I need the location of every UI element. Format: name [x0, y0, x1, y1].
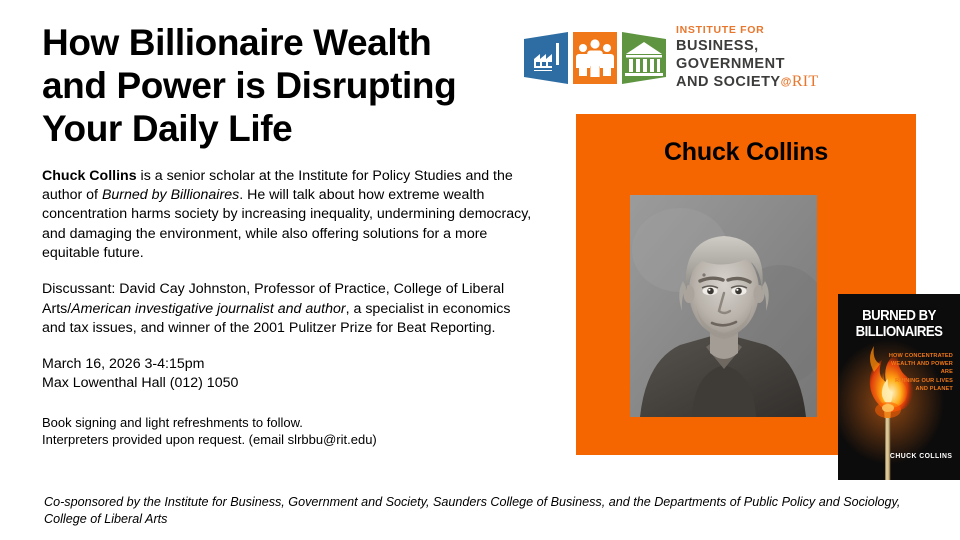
sponsor-footer: Co-sponsored by the Institute for Busine…: [44, 494, 934, 527]
book-author-text: CHUCK COLLINS: [890, 451, 952, 460]
book-subtitle-text: HOW CONCENTRATED WEALTH AND POWER ARE RU…: [881, 352, 953, 393]
book-title-text: BURNED BY BILLIONAIRES: [845, 308, 952, 339]
event-datetime-location: March 16, 2026 3-4:15pm Max Lowenthal Ha…: [42, 355, 534, 394]
rit-wordmark: RIT: [792, 73, 819, 90]
event-info-column: How Billionaire Wealth and Power is Disr…: [42, 22, 534, 449]
logo-line-3-row: AND SOCIETY@RIT: [676, 73, 819, 92]
logo-line-3: AND SOCIETY: [676, 74, 781, 90]
event-notes: Book signing and light refreshments to f…: [42, 414, 534, 449]
speaker-name-bold: Chuck Collins: [42, 168, 137, 184]
discussant-role-italic: American investigative journalist and au…: [71, 301, 345, 317]
factory-icon: [524, 32, 568, 84]
logo-line-2: GOVERNMENT: [676, 56, 819, 74]
book-title-italic: Burned by Billionaires: [102, 187, 239, 203]
institution-icon: [622, 32, 666, 84]
institute-logo: INSTITUTE FOR BUSINESS, GOVERNMENT AND S…: [522, 18, 822, 98]
logo-wordmark: INSTITUTE FOR BUSINESS, GOVERNMENT AND S…: [676, 25, 819, 92]
people-icon: [573, 32, 617, 84]
logo-line-1: BUSINESS,: [676, 38, 819, 56]
logo-marks: [522, 29, 668, 87]
avatar: [630, 195, 817, 417]
at-symbol: @: [781, 76, 792, 88]
page-title: How Billionaire Wealth and Power is Disr…: [42, 22, 534, 151]
book-cover-image: BURNED BY BILLIONAIRES HOW CONCENTRATED …: [838, 294, 960, 480]
discussant-paragraph: Discussant: David Cay Johnston, Professo…: [42, 280, 534, 338]
speaker-bio-paragraph: Chuck Collins is a senior scholar at the…: [42, 167, 534, 263]
speaker-name-heading: Chuck Collins: [576, 138, 916, 167]
logo-kicker: INSTITUTE FOR: [676, 25, 819, 36]
